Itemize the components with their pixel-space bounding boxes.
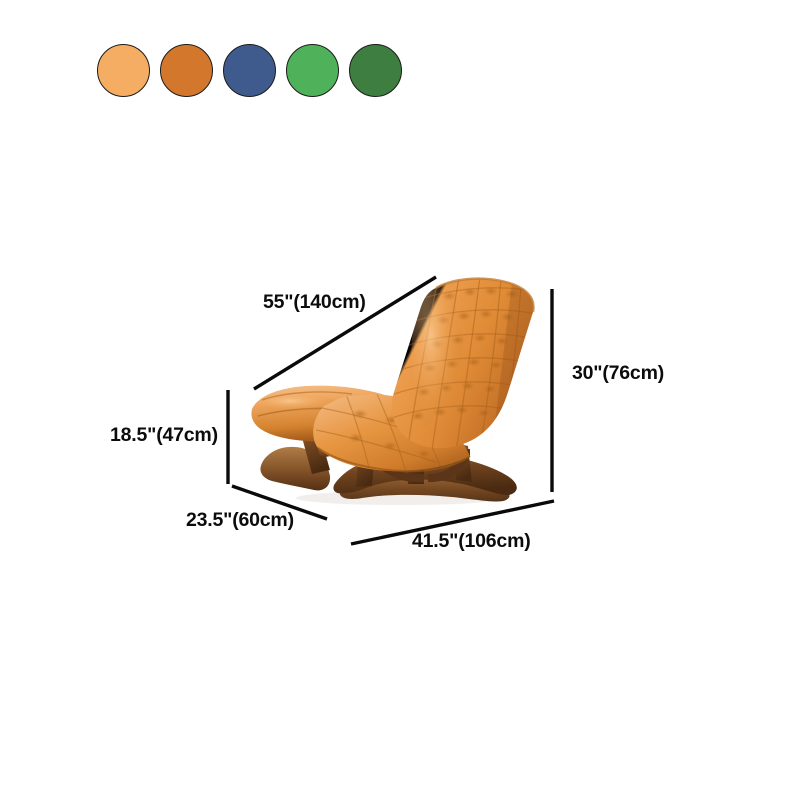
dimension-label-overall-length: 41.5"(106cm)	[412, 530, 531, 553]
chair-backrest	[392, 277, 540, 452]
front-leg-left	[356, 436, 376, 487]
side-rail	[318, 442, 352, 458]
rocker-runner-front	[333, 454, 516, 495]
seat-roll-cushion	[251, 386, 398, 442]
color-swatch-row	[97, 44, 402, 97]
cross-stretcher	[352, 444, 470, 457]
dimension-label-depth: 23.5"(60cm)	[186, 509, 294, 532]
dimension-label-seat-height: 18.5"(47cm)	[110, 424, 218, 447]
roll-highlight	[260, 395, 340, 413]
dimension-line-width	[254, 277, 436, 389]
seat-pan	[313, 395, 470, 471]
swatch-dark-green[interactable]	[349, 44, 402, 97]
seat-piping	[318, 448, 470, 471]
arch-left	[368, 452, 424, 482]
roll-crease-2	[258, 408, 370, 416]
front-leg-center	[408, 437, 424, 484]
dimension-label-height: 30"(76cm)	[572, 362, 664, 385]
dimension-lines	[228, 277, 554, 544]
backrest-panel	[392, 279, 534, 449]
dimension-line-overall-length	[351, 501, 554, 544]
swatch-light-orange[interactable]	[97, 44, 150, 97]
ground-shadow	[296, 491, 504, 505]
chair-wood-base	[260, 428, 516, 502]
dimension-label-width: 55"(140cm)	[263, 291, 366, 314]
arch-right	[428, 452, 470, 482]
backrest-tufting	[392, 277, 540, 452]
product-dimension-figure: 55"(140cm) 30"(76cm) 18.5"(47cm) 23.5"(6…	[0, 0, 800, 800]
backrest-top-roll	[436, 279, 533, 312]
front-leg-right	[452, 442, 472, 482]
chair-seat-roll	[251, 386, 398, 442]
dimension-line-depth	[232, 486, 327, 519]
rocker-runner-front-upper	[340, 464, 510, 502]
swatch-burnt-orange[interactable]	[160, 44, 213, 97]
seat-tufting	[316, 392, 442, 472]
swatch-navy-blue[interactable]	[223, 44, 276, 97]
rear-leg-strut	[300, 428, 330, 474]
swatch-light-green[interactable]	[286, 44, 339, 97]
rocking-chair-illustration	[251, 277, 540, 505]
chair-seat	[313, 392, 470, 472]
roll-crease-1	[262, 392, 352, 400]
rocker-runner-rear	[260, 447, 330, 491]
